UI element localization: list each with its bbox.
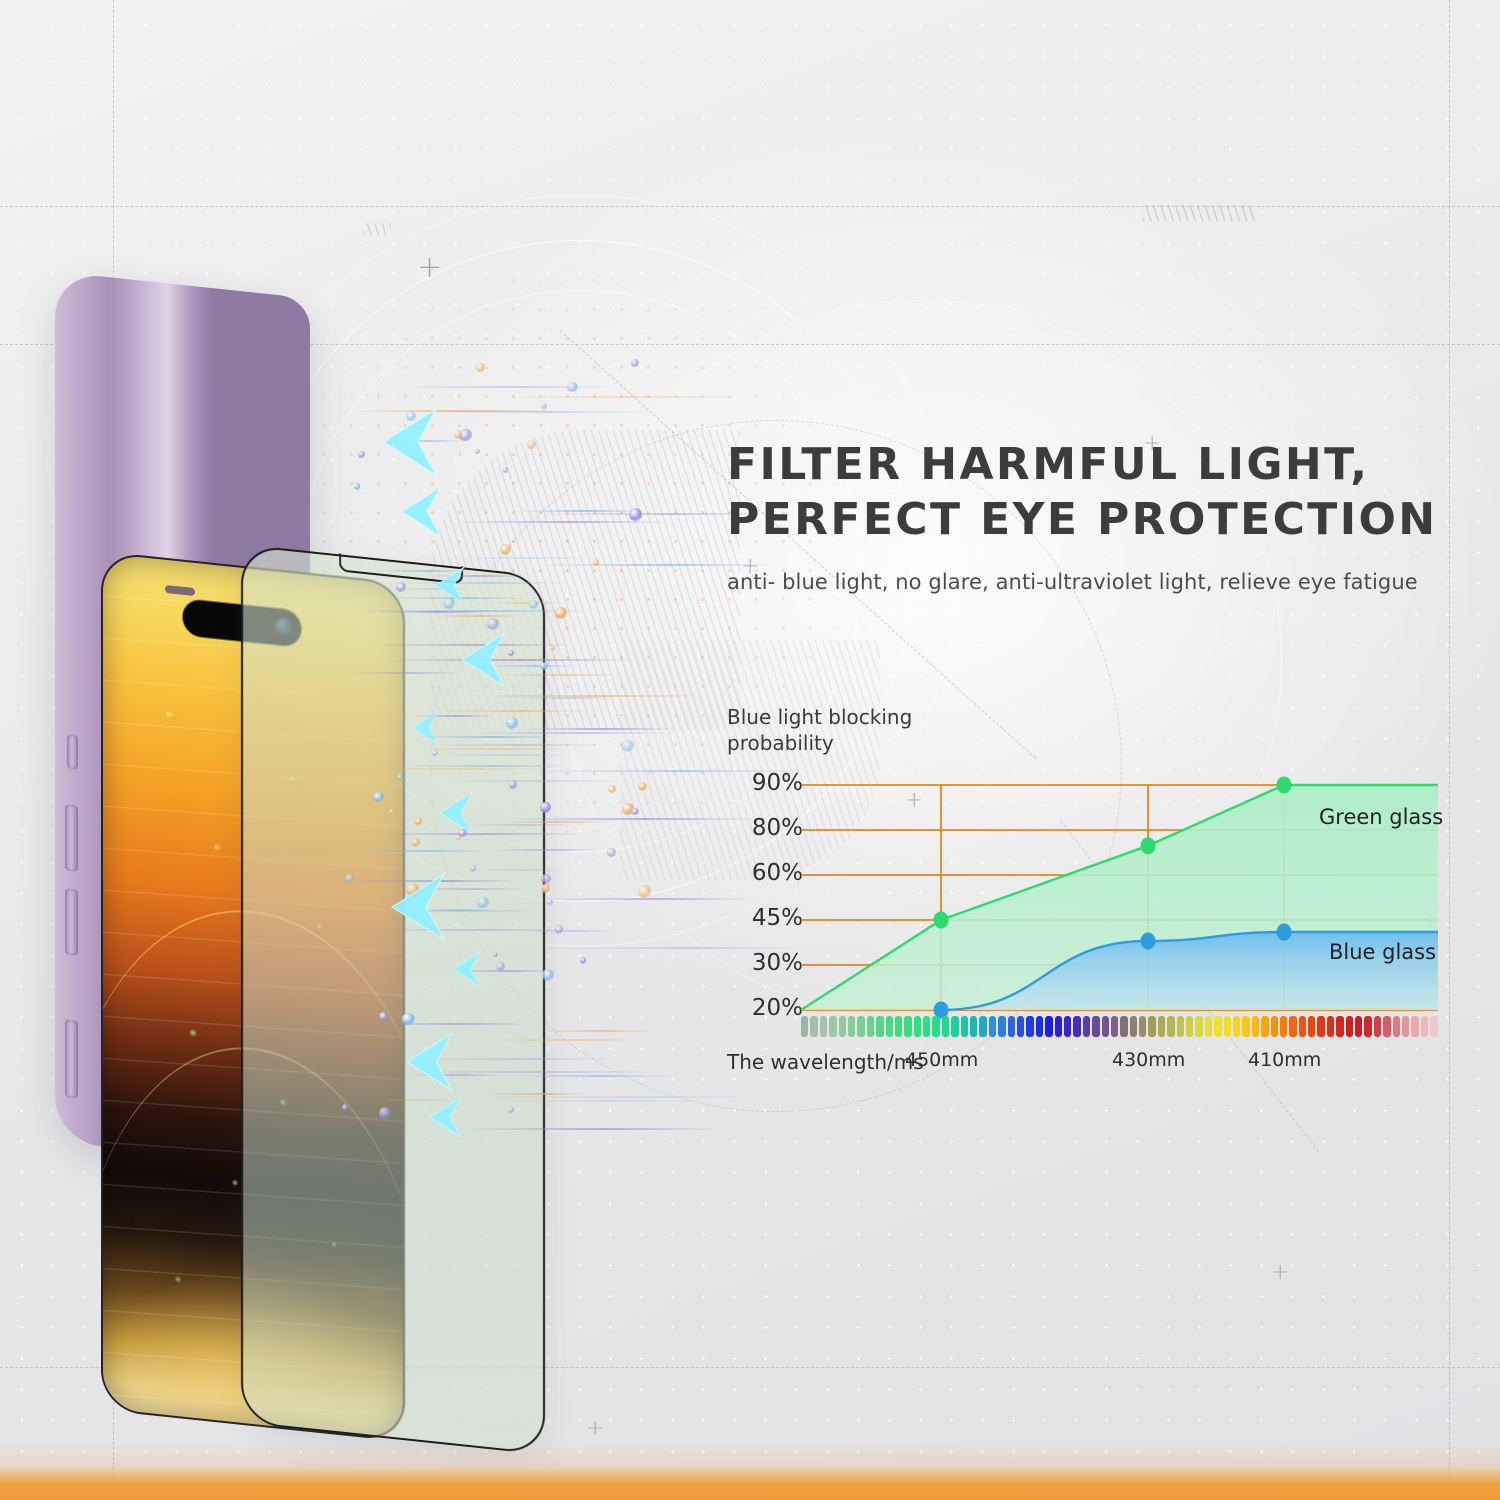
light-streak xyxy=(520,728,674,730)
series-data-point xyxy=(1277,924,1292,941)
spectrum-segment xyxy=(1055,1016,1062,1037)
series-data-point xyxy=(1141,933,1156,950)
light-particle xyxy=(411,838,420,847)
light-particle xyxy=(379,1012,388,1021)
spectrum-segment xyxy=(801,1016,808,1037)
spectrum-segment xyxy=(1271,1016,1278,1037)
spectrum-segment xyxy=(1092,1016,1099,1037)
light-streak xyxy=(536,1030,657,1032)
volume-up-button xyxy=(65,804,78,871)
spectrum-segment xyxy=(857,1016,864,1037)
spectrum-segment xyxy=(1073,1016,1080,1037)
y-tick-label: 80% xyxy=(725,815,803,841)
light-streak xyxy=(378,659,638,661)
spectrum-segment xyxy=(867,1016,874,1037)
light-particle xyxy=(638,885,651,898)
light-particle xyxy=(541,403,547,409)
spectrum-segment xyxy=(998,1016,1005,1037)
light-particle xyxy=(373,792,383,802)
light-streak xyxy=(501,821,607,823)
spectrum-segment xyxy=(932,1016,939,1037)
series-label-blue-glass: Blue glass xyxy=(1329,940,1436,964)
light-particle xyxy=(541,884,549,892)
spectrum-segment xyxy=(1308,1016,1315,1037)
light-deflection-arrow-icon xyxy=(458,630,508,689)
spectrum-segment xyxy=(1102,1016,1109,1037)
light-particle xyxy=(477,897,489,909)
y-tick-label: 20% xyxy=(725,995,803,1021)
light-particle xyxy=(631,808,638,815)
spectrum-segment xyxy=(979,1016,986,1037)
light-deflection-arrow-icon xyxy=(432,565,466,606)
blue-light-blocking-chart: Blue light blocking probability 90%80%60… xyxy=(725,705,1465,1085)
light-streak xyxy=(493,396,754,398)
spectrum-segment xyxy=(1289,1016,1296,1037)
spectrum-segment xyxy=(904,1016,911,1037)
light-particle xyxy=(508,1107,514,1113)
wavelength-spectrum-bar xyxy=(801,1016,1438,1037)
light-particle xyxy=(529,600,538,609)
spectrum-segment xyxy=(820,1016,827,1037)
light-streak xyxy=(487,1093,587,1095)
light-streak xyxy=(378,611,487,613)
light-streak xyxy=(466,695,710,697)
spectrum-segment xyxy=(895,1016,902,1037)
light-particle xyxy=(493,952,499,958)
spectrum-segment xyxy=(1177,1016,1184,1037)
light-streak xyxy=(355,768,547,770)
y-tick-label: 60% xyxy=(725,860,803,886)
light-deflection-arrow-icon xyxy=(426,1095,463,1139)
light-particle xyxy=(342,1104,349,1111)
light-particle xyxy=(541,874,550,883)
light-streak xyxy=(497,1100,709,1102)
spectrum-segment xyxy=(886,1016,893,1037)
y-tick-label: 30% xyxy=(725,950,803,976)
power-button xyxy=(65,1019,78,1098)
light-particle xyxy=(593,559,599,565)
x-tick-label: 430mm xyxy=(1112,1049,1185,1071)
headline-line-1: FILTER HARMFUL LIGHT, xyxy=(727,437,1427,492)
light-particle xyxy=(540,802,551,813)
light-particle xyxy=(415,818,422,825)
spectrum-segment xyxy=(1045,1016,1052,1037)
light-streak xyxy=(349,672,462,674)
light-streak xyxy=(519,697,614,699)
spectrum-segment xyxy=(1299,1016,1306,1037)
light-particle xyxy=(550,646,555,651)
light-particle xyxy=(476,363,485,372)
light-particle xyxy=(506,717,518,729)
spectrum-segment xyxy=(1430,1016,1437,1037)
spectrum-segment xyxy=(1214,1016,1221,1037)
light-particle xyxy=(547,899,554,906)
y-tick-label: 90% xyxy=(725,770,803,796)
light-streak xyxy=(505,818,759,820)
spectrum-segment xyxy=(1186,1016,1193,1037)
spectrum-segment xyxy=(1402,1016,1409,1037)
spectrum-segment xyxy=(1317,1016,1324,1037)
spectrum-segment xyxy=(1393,1016,1400,1037)
spectrum-segment xyxy=(951,1016,958,1037)
spectrum-segment xyxy=(1083,1016,1090,1037)
spectrum-segment xyxy=(1195,1016,1202,1037)
spectrum-segment xyxy=(914,1016,921,1037)
spectrum-segment xyxy=(923,1016,930,1037)
light-particle xyxy=(527,440,536,449)
page-title: FILTER HARMFUL LIGHT, PERFECT EYE PROTEC… xyxy=(727,437,1427,548)
spectrum-segment xyxy=(1205,1016,1212,1037)
light-particle xyxy=(475,449,480,454)
series-label-green-glass: Green glass xyxy=(1319,805,1443,829)
light-particle xyxy=(509,780,518,789)
light-streak xyxy=(539,564,776,566)
light-particle xyxy=(607,848,615,856)
light-particle xyxy=(629,508,642,521)
spectrum-segment xyxy=(961,1016,968,1037)
light-streak xyxy=(446,780,628,782)
spectrum-segment xyxy=(1064,1016,1071,1037)
light-particle xyxy=(379,1107,391,1119)
light-streak xyxy=(490,674,626,676)
light-deflection-arrow-icon xyxy=(410,710,440,746)
light-particle xyxy=(397,774,402,779)
light-streak xyxy=(433,615,524,617)
spectrum-segment xyxy=(1364,1016,1371,1037)
light-particle xyxy=(580,957,586,963)
light-streak xyxy=(401,386,614,388)
spectrum-segment xyxy=(1017,1016,1024,1037)
volume-down-button xyxy=(65,888,78,955)
spectrum-segment xyxy=(1158,1016,1165,1037)
light-particle xyxy=(396,582,406,592)
spectrum-segment xyxy=(810,1016,817,1037)
light-streak xyxy=(371,1023,531,1025)
light-streak xyxy=(466,732,674,734)
light-streak xyxy=(464,1128,721,1130)
bottom-accent-bar xyxy=(0,1442,1500,1500)
light-particle xyxy=(470,865,476,871)
light-streak xyxy=(428,744,601,746)
light-streak xyxy=(408,765,568,767)
light-ray-effects xyxy=(340,350,670,1140)
spectrum-segment xyxy=(1280,1016,1287,1037)
light-streak xyxy=(538,898,756,900)
spectrum-segment xyxy=(989,1016,996,1037)
light-particle xyxy=(432,750,438,756)
light-particle xyxy=(402,1013,414,1025)
light-streak xyxy=(492,602,563,604)
mute-switch xyxy=(67,734,78,769)
spectrum-segment xyxy=(942,1016,949,1037)
spectrum-segment xyxy=(970,1016,977,1037)
spectrum-segment xyxy=(1327,1016,1334,1037)
light-streak xyxy=(461,824,577,826)
light-particle xyxy=(345,874,354,883)
spectrum-segment xyxy=(848,1016,855,1037)
spectrum-segment xyxy=(1233,1016,1240,1037)
x-tick-label: 450mm xyxy=(905,1049,978,1071)
series-data-point xyxy=(1141,837,1156,854)
spectrum-segment xyxy=(1261,1016,1268,1037)
spectrum-segment xyxy=(1120,1016,1127,1037)
spectrum-segment xyxy=(1355,1016,1362,1037)
light-deflection-arrow-icon xyxy=(378,405,440,479)
light-particle xyxy=(608,785,616,793)
spectrum-segment xyxy=(1111,1016,1118,1037)
light-deflection-arrow-icon xyxy=(386,870,448,944)
spectrum-segment xyxy=(839,1016,846,1037)
light-particle xyxy=(555,925,564,934)
spectrum-segment xyxy=(1130,1016,1137,1037)
light-streak xyxy=(510,1075,675,1077)
light-particle xyxy=(487,618,499,630)
light-particle xyxy=(567,382,577,392)
light-streak xyxy=(451,521,669,523)
light-particle xyxy=(389,809,395,815)
light-deflection-arrow-icon xyxy=(436,790,474,836)
light-streak xyxy=(440,710,589,712)
light-streak xyxy=(486,1096,759,1098)
spectrum-segment xyxy=(1224,1016,1231,1037)
series-data-point xyxy=(1277,777,1292,794)
light-streak xyxy=(355,850,489,852)
light-streak xyxy=(434,754,572,756)
light-particle xyxy=(508,650,513,655)
light-streak xyxy=(474,869,566,871)
light-streak xyxy=(498,1039,642,1041)
light-particle xyxy=(631,359,639,367)
light-particle xyxy=(358,451,365,458)
light-particle xyxy=(542,969,554,981)
spectrum-segment xyxy=(1383,1016,1390,1037)
light-particle xyxy=(622,740,634,752)
light-deflection-arrow-icon xyxy=(398,485,443,538)
light-particle xyxy=(454,430,463,439)
series-data-point xyxy=(934,912,949,929)
light-deflection-arrow-icon xyxy=(402,1030,455,1094)
x-tick-label: 410mm xyxy=(1248,1049,1321,1071)
spectrum-segment xyxy=(1252,1016,1259,1037)
spectrum-segment xyxy=(1421,1016,1428,1037)
spectrum-segment xyxy=(1336,1016,1343,1037)
light-streak xyxy=(365,833,586,835)
light-streak xyxy=(460,557,589,559)
headline-line-2: PERFECT EYE PROTECTION xyxy=(727,492,1427,547)
spectrum-segment xyxy=(1167,1016,1174,1037)
chart-y-axis-title: Blue light blocking probability xyxy=(727,705,957,756)
light-streak xyxy=(391,582,569,584)
chart-x-axis-title: The wavelength/ms xyxy=(727,1050,924,1074)
spectrum-segment xyxy=(876,1016,883,1037)
spectrum-segment xyxy=(1008,1016,1015,1037)
spectrum-segment xyxy=(1411,1016,1418,1037)
spectrum-segment xyxy=(1026,1016,1033,1037)
spectrum-segment xyxy=(829,1016,836,1037)
light-particle xyxy=(555,607,568,620)
light-streak xyxy=(494,849,599,851)
spectrum-segment xyxy=(1346,1016,1353,1037)
spectrum-segment xyxy=(1242,1016,1249,1037)
spectrum-segment xyxy=(1139,1016,1146,1037)
subtitle-text: anti- blue light, no glare, anti-ultravi… xyxy=(727,570,1418,594)
light-particle xyxy=(500,544,511,555)
light-deflection-arrow-icon xyxy=(450,950,482,988)
y-tick-label: 45% xyxy=(725,905,803,931)
spectrum-segment xyxy=(1148,1016,1155,1037)
light-particle xyxy=(638,782,647,791)
light-particle xyxy=(354,483,360,489)
light-particle xyxy=(540,662,548,670)
spectrum-segment xyxy=(1374,1016,1381,1037)
light-particle xyxy=(503,467,508,472)
spectrum-segment xyxy=(1036,1016,1043,1037)
